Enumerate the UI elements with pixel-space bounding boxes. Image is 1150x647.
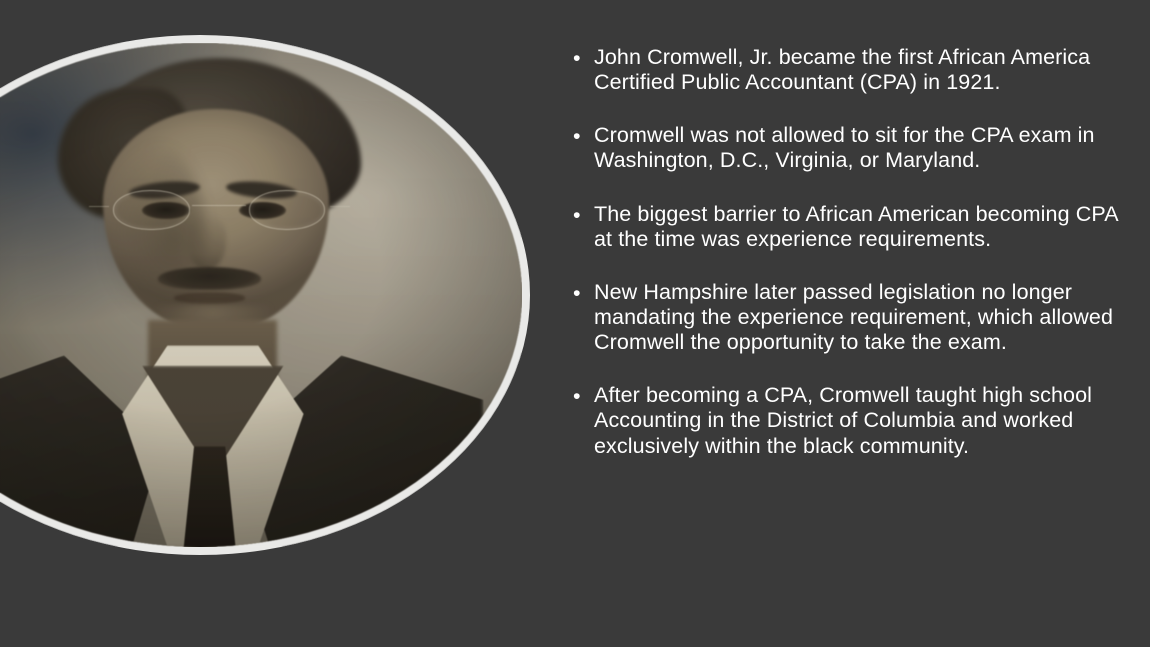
bullet-text: New Hampshire later passed legislation n… xyxy=(594,280,1113,354)
bullet-item: • The biggest barrier to African America… xyxy=(565,202,1133,252)
bullet-item: • After becoming a CPA, Cromwell taught … xyxy=(565,383,1133,458)
bullet-text: After becoming a CPA, Cromwell taught hi… xyxy=(594,383,1092,457)
bullet-marker-icon: • xyxy=(573,124,581,149)
bullet-text: John Cromwell, Jr. became the first Afri… xyxy=(594,45,1090,94)
bullet-marker-icon: • xyxy=(573,203,581,228)
bullet-marker-icon: • xyxy=(573,281,581,306)
bullet-item: • New Hampshire later passed legislation… xyxy=(565,280,1133,355)
slide-body-text: • John Cromwell, Jr. became the first Af… xyxy=(565,45,1133,459)
portrait-circle-frame xyxy=(0,35,530,555)
bullet-item: • Cromwell was not allowed to sit for th… xyxy=(565,123,1133,173)
portrait-film-grain xyxy=(0,43,522,547)
bullet-marker-icon: • xyxy=(573,46,581,71)
bullet-item: • John Cromwell, Jr. became the first Af… xyxy=(565,45,1133,95)
bullet-list: • John Cromwell, Jr. became the first Af… xyxy=(565,45,1133,459)
portrait-photo xyxy=(0,43,522,547)
bullet-marker-icon: • xyxy=(573,384,581,409)
bullet-text: Cromwell was not allowed to sit for the … xyxy=(594,123,1095,172)
bullet-text: The biggest barrier to African American … xyxy=(594,202,1117,251)
presentation-slide: • John Cromwell, Jr. became the first Af… xyxy=(0,0,1150,647)
